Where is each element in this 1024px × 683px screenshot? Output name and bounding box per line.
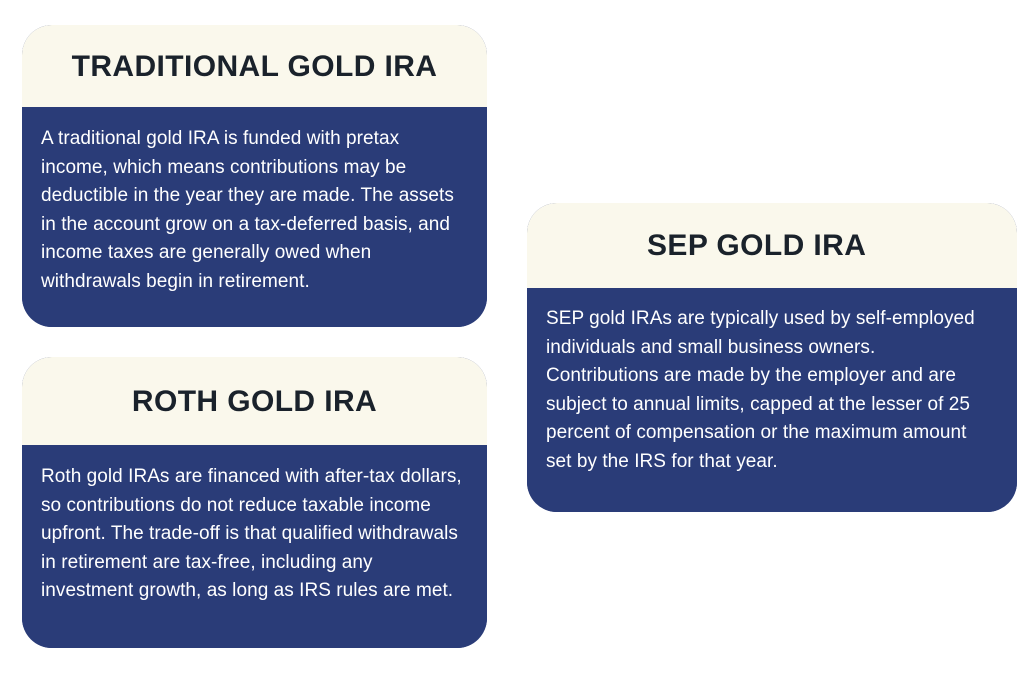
card-traditional-body: A traditional gold IRA is funded with pr… [22,107,487,327]
card-sep-gold-ira: SEP GOLD IRA SEP gold IRAs are typically… [527,203,1017,512]
card-sep-title: SEP GOLD IRA [647,229,866,262]
card-roth-body: Roth gold IRAs are financed with after-t… [22,445,487,648]
card-traditional-description: A traditional gold IRA is funded with pr… [41,125,469,296]
card-traditional-title: TRADITIONAL GOLD IRA [72,50,438,83]
card-roth-gold-ira: ROTH GOLD IRA Roth gold IRAs are finance… [22,357,487,648]
card-traditional-gold-ira: TRADITIONAL GOLD IRA A traditional gold … [22,25,487,327]
infographic-canvas: TRADITIONAL GOLD IRA A traditional gold … [0,0,1024,683]
card-roth-header: ROTH GOLD IRA [22,357,487,445]
card-sep-body: SEP gold IRAs are typically used by self… [527,288,1017,512]
card-roth-title: ROTH GOLD IRA [132,385,377,418]
card-sep-description: SEP gold IRAs are typically used by self… [546,305,987,476]
card-sep-header: SEP GOLD IRA [527,203,1017,288]
card-roth-description: Roth gold IRAs are financed with after-t… [41,463,469,606]
card-traditional-header: TRADITIONAL GOLD IRA [22,25,487,107]
